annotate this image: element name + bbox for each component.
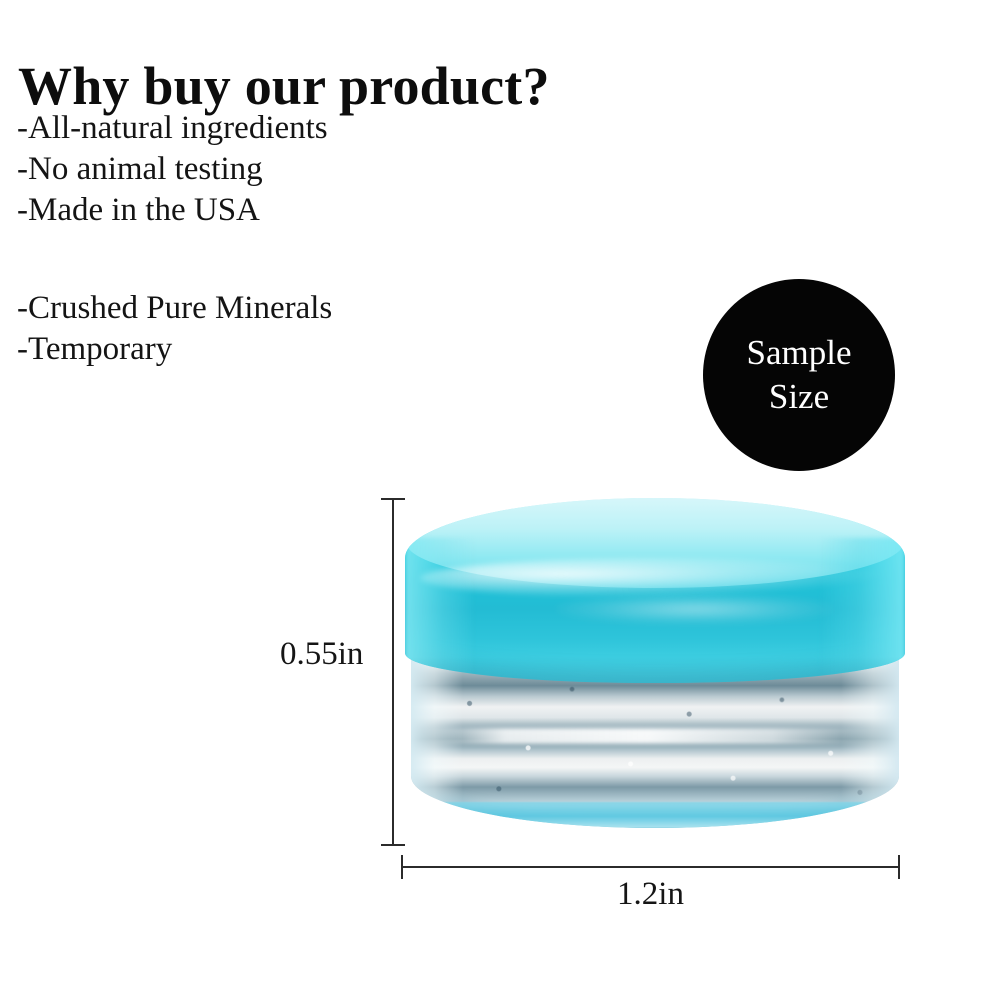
benefits-list-secondary: -Crushed Pure Minerals -Temporary: [17, 288, 332, 370]
badge-line-1: Sample: [747, 331, 852, 375]
height-dimension-tick-top: [381, 498, 405, 500]
width-dimension-label: 1.2in: [401, 876, 900, 913]
page-title: Why buy our product?: [18, 58, 550, 115]
benefits-list-primary: -All-natural ingredients -No animal test…: [17, 108, 328, 231]
benefit-item: -Made in the USA: [17, 190, 328, 231]
badge-line-2: Size: [769, 375, 829, 419]
sample-size-badge: Sample Size: [703, 279, 895, 471]
benefit-item: -No animal testing: [17, 149, 328, 190]
product-infographic-page: Why buy our product? -All-natural ingred…: [0, 0, 1000, 1000]
benefit-item: -Temporary: [17, 329, 332, 370]
height-dimension-label: 0.55in: [280, 636, 363, 673]
height-dimension-tick-bottom: [381, 844, 405, 846]
jar-turquoise-lid: [405, 498, 905, 683]
glass-specular-streak: [421, 728, 890, 744]
product-photo: [405, 498, 905, 830]
lid-bottom-shading: [405, 657, 905, 683]
height-dimension-line: [392, 498, 394, 846]
lid-highlight-secondary: [555, 594, 835, 624]
benefit-item: -Crushed Pure Minerals: [17, 288, 332, 329]
benefit-item: -All-natural ingredients: [17, 108, 328, 149]
width-dimension-line: [401, 866, 900, 868]
